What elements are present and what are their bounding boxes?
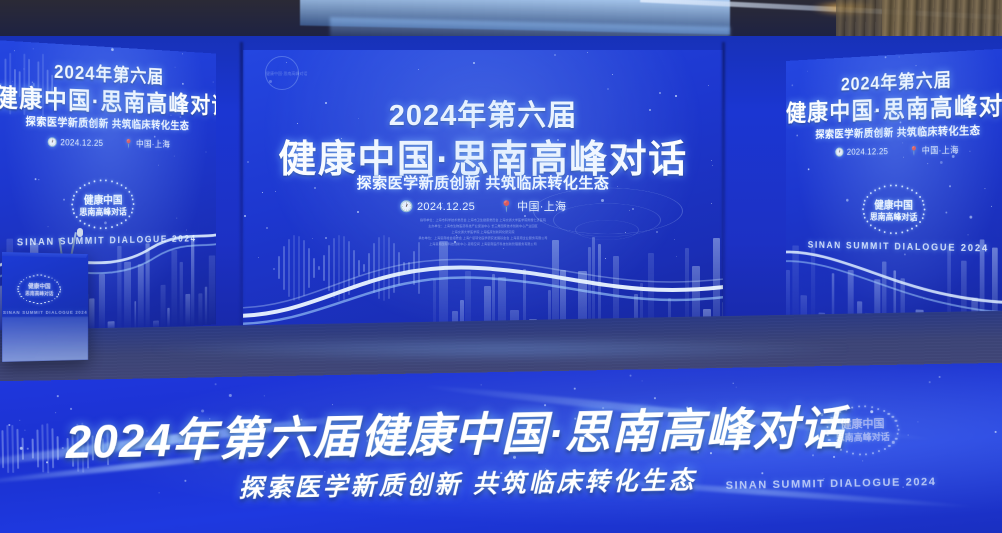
panel-seam-right (722, 42, 725, 342)
emblem-bead (863, 212, 865, 214)
panel-right-year-line: 2024年第六届 (786, 62, 1002, 98)
star-speck (711, 160, 712, 161)
star-speck (174, 67, 175, 68)
panel-right-meta: 🕐 2024.12.25 📍 中国·上海 (786, 142, 1002, 159)
star-speck (587, 52, 588, 53)
skyline-building (205, 287, 207, 325)
star-speck (480, 385, 481, 386)
speaker-podium: 健康中国 思南高峰对话 SINAN SUMMIT DIALOGUE 2024 (2, 252, 88, 362)
emblem-bead (915, 192, 917, 194)
star-speck (325, 237, 327, 239)
star-speck (264, 396, 265, 397)
emblem-bead (111, 226, 113, 228)
location-pin-icon: 📍 (124, 139, 134, 150)
sponsor-line: 上海交通大学医学院 上海临床创新转化研究院 (243, 230, 723, 236)
skyline-building (185, 294, 190, 326)
star-speck (629, 374, 631, 376)
emblem-bead (76, 216, 78, 218)
dna-rung (343, 236, 345, 300)
star-speck (617, 186, 618, 187)
star-speck (182, 53, 183, 54)
dna-rung (338, 235, 340, 301)
emblem-bead (911, 189, 913, 191)
star-speck (456, 235, 457, 236)
emblem-bead (99, 180, 101, 182)
emblem-bead (41, 275, 42, 276)
star-speck (389, 163, 391, 165)
clock-icon: 🕐 (47, 137, 58, 148)
emblem-bead (901, 231, 903, 233)
star-speck (674, 239, 675, 240)
star-speck (903, 156, 904, 157)
emblem-bead (51, 278, 52, 279)
star-speck (247, 161, 249, 163)
dna-helix-graphic (273, 232, 423, 304)
emblem-bead (33, 275, 34, 276)
star-speck (286, 62, 287, 63)
star-speck (26, 100, 27, 101)
star-speck (213, 82, 214, 83)
dna-rung (62, 447, 64, 450)
star-speck (675, 95, 677, 97)
panel-left-year-line: 2024年第六届 (0, 54, 216, 91)
star-speck (601, 199, 604, 202)
skyline-building (161, 285, 166, 328)
emblem-bead (94, 180, 96, 182)
skyline-building (146, 243, 150, 329)
emblem-bead (879, 229, 881, 231)
star-speck (612, 74, 613, 75)
emblem-bead (862, 208, 864, 210)
star-speck (177, 218, 178, 219)
dna-rung (378, 237, 380, 298)
emblem-bead (72, 208, 74, 210)
dna-rung (5, 59, 7, 109)
star-speck (370, 160, 372, 162)
dna-rung (293, 235, 295, 300)
star-speck (607, 88, 609, 90)
star-speck (57, 395, 59, 397)
emblem-bead (864, 405, 866, 407)
emblem-bead (867, 196, 869, 198)
stage-front-banner: 2024年第六届健康中国·思南高峰对话 探索医学新质创新 共筑临床转化生态 健康… (0, 363, 1002, 533)
star-speck (620, 154, 621, 155)
skyline-building (99, 273, 105, 331)
dna-rung (323, 255, 325, 282)
star-speck (659, 92, 661, 94)
emblem-bead (37, 275, 38, 276)
emblem-bead (72, 199, 74, 201)
emblem-bead-ring (862, 184, 925, 234)
watermark-text: 健康中国·思南高峰对话 (266, 71, 298, 77)
panel-center-year-line: 2024年第六届 (243, 92, 723, 134)
dna-rung (51, 74, 53, 96)
star-speck (312, 238, 313, 239)
star-speck (862, 460, 863, 461)
dna-rung (373, 243, 375, 292)
star-speck (969, 151, 970, 152)
emblem-bead (131, 212, 133, 214)
star-speck (656, 231, 658, 233)
emblem-bead (76, 191, 78, 193)
emblem-bead (94, 226, 96, 228)
emblem-bead (859, 453, 861, 455)
star-speck (305, 141, 308, 144)
emblem-bead (54, 298, 55, 299)
dna-rung (28, 59, 30, 110)
skyline-building (138, 264, 144, 329)
emblem-bead (911, 228, 913, 230)
star-speck (929, 381, 931, 383)
dna-rung (288, 239, 290, 297)
skyline-building (180, 262, 183, 327)
star-speck (229, 394, 232, 397)
star-speck (275, 191, 276, 192)
dna-helix-graphic (0, 48, 56, 119)
dna-rung (46, 424, 49, 473)
dna-rung (1, 430, 4, 469)
star-speck (952, 155, 955, 158)
star-speck (126, 128, 127, 129)
star-speck (791, 85, 793, 87)
dna-rung (333, 238, 335, 298)
star-speck (180, 116, 182, 118)
dna-rung (408, 262, 410, 274)
star-speck (59, 92, 62, 95)
dna-rung (33, 83, 35, 86)
star-speck (24, 68, 25, 69)
star-speck (358, 118, 359, 119)
star-speck (927, 163, 928, 164)
dna-rung (383, 235, 385, 301)
panel-center-date: 2024.12.25 (417, 201, 475, 213)
star-speck (898, 56, 899, 57)
star-speck (71, 109, 72, 110)
star-speck (341, 138, 342, 139)
star-speck (186, 229, 187, 230)
emblem-bead (923, 213, 925, 215)
star-speck (632, 208, 634, 210)
star-speck (442, 203, 443, 204)
star-speck (629, 210, 630, 211)
star-speck (105, 221, 108, 224)
panel-right-english-line: SINAN SUMMIT DIALOGUE 2024 (786, 240, 1002, 255)
star-speck (676, 256, 677, 257)
emblem-bead (867, 221, 869, 223)
banner-emblem: 健康中国 思南高峰对话 (825, 405, 900, 456)
skyline-building (124, 261, 131, 330)
emblem-bead (71, 203, 73, 205)
star-speck (891, 110, 892, 111)
skyline-building (117, 246, 121, 331)
star-speck (885, 108, 887, 110)
star-speck (474, 189, 475, 190)
star-speck (712, 165, 713, 166)
emblem-line-1: 健康中国 (71, 192, 134, 208)
dna-rung (358, 260, 360, 275)
emblem-line-1: 健康中国 (17, 281, 60, 290)
dna-rung (393, 243, 395, 294)
dna-rung (363, 264, 365, 272)
star-speck (362, 183, 364, 185)
star-speck (454, 241, 456, 243)
emblem-bead (51, 300, 52, 301)
star-speck (625, 232, 626, 233)
emblem-bead (121, 184, 123, 186)
skyline-building (134, 301, 136, 329)
star-speck (733, 383, 734, 384)
star-speck (12, 80, 13, 81)
dna-rung (388, 237, 390, 299)
emblem-bead (924, 208, 926, 210)
emblem-bead (852, 452, 854, 454)
panel-center-meta: 🕐 2024.12.25 📍 中国·上海 (243, 198, 723, 214)
star-speck (554, 54, 556, 56)
star-speck (206, 152, 207, 153)
location-pin-icon: 📍 (500, 200, 514, 213)
star-speck (524, 215, 526, 217)
clock-icon: 🕐 (835, 147, 845, 157)
floor-light-reflection (150, 336, 850, 362)
emblem-bead (884, 231, 886, 233)
star-specks (786, 48, 1002, 344)
emblem-bead (44, 302, 45, 303)
emblem-bead (79, 220, 81, 222)
dna-rung (22, 437, 24, 460)
panel-center-subtitle: 探索医学新质创新 共筑临床转化生态 (243, 172, 723, 193)
swirl-ring (533, 188, 683, 234)
emblem-bead (878, 450, 880, 452)
star-speck (807, 168, 809, 170)
emblem-bead (865, 453, 867, 455)
dna-rung (14, 69, 16, 98)
star-speck (154, 136, 156, 138)
emblem-bead (121, 222, 123, 224)
emblem-bead (890, 232, 892, 234)
emblem-bead (131, 195, 133, 197)
star-speck (103, 97, 106, 100)
star-speck (900, 122, 902, 124)
star-speck (503, 248, 504, 249)
star-speck (574, 388, 576, 390)
star-speck (185, 479, 187, 481)
star-speck (904, 254, 906, 256)
skyline-building (172, 250, 177, 327)
panel-right-main-title: 健康中国·思南高峰对话 (786, 86, 1002, 128)
emblem-bead (864, 217, 866, 219)
dna-rung (398, 252, 400, 285)
emblem-bead (851, 406, 853, 408)
star-speck (875, 110, 877, 112)
dna-rung (16, 429, 19, 469)
dna-rung (368, 253, 370, 284)
star-speck (357, 211, 359, 213)
skyline-building (191, 239, 194, 326)
swirl-ring (553, 203, 661, 236)
star-speck (847, 249, 848, 250)
star-speck (215, 100, 216, 102)
star-speck (182, 82, 184, 84)
star-speck (985, 188, 986, 189)
emblem-bead (871, 406, 873, 408)
star-speck (970, 216, 973, 219)
star-speck (55, 412, 56, 413)
dna-rung (11, 424, 14, 473)
dna-rung (418, 242, 420, 294)
emblem-line-2: 思南高峰对话 (17, 290, 60, 297)
clock-icon: 🕐 (400, 200, 414, 213)
emblem-bead (883, 448, 885, 450)
star-speck (605, 258, 606, 259)
podium-top-surface (2, 252, 88, 258)
emblem-bead (870, 224, 872, 226)
star-speck (473, 62, 475, 64)
star-speck (325, 102, 327, 104)
sponsor-line: 上海思南国际科技创新中心·思南空间 上海思南医疗科技创新管理服务有限公司 (243, 242, 723, 248)
emblem-bead (89, 225, 91, 227)
emblem-bead (879, 187, 881, 189)
star-speck (314, 187, 316, 189)
star-speck (796, 135, 798, 137)
emblem-bead (84, 223, 86, 225)
star-speck (418, 69, 419, 70)
star-speck (325, 156, 326, 157)
star-speck (266, 227, 268, 229)
dna-rung (413, 251, 415, 285)
emblem-line-2: 思南高峰对话 (71, 205, 134, 218)
emblem-bead (99, 227, 101, 229)
star-speck (258, 257, 259, 258)
emblem-bead (29, 276, 30, 277)
dna-rung (51, 428, 54, 468)
dna-rung (32, 438, 34, 458)
star-speck (902, 142, 903, 143)
emblem-bead (895, 185, 897, 187)
podium-glass-front (2, 317, 88, 362)
star-speck (297, 123, 298, 124)
star-speck (48, 226, 49, 227)
emblem-line-2: 思南高峰对话 (826, 430, 900, 444)
emblem-bead (128, 215, 130, 217)
star-speck (269, 80, 272, 83)
star-speck (193, 99, 195, 102)
swirl-ring (575, 220, 639, 240)
star-speck (171, 115, 172, 116)
emblem-bead (132, 199, 134, 201)
emblem-bead (23, 279, 24, 280)
dna-rung (308, 248, 310, 288)
emblem-bead (79, 187, 81, 189)
panel-center-watermark-logo: 健康中国·思南高峰对话 (265, 56, 299, 90)
emblem-bead (89, 182, 91, 184)
star-speck (14, 50, 15, 51)
dna-rung (348, 241, 350, 294)
panel-left-main-title: 健康中国·思南高峰对话 (0, 78, 216, 121)
dna-rung (303, 240, 305, 296)
emblem-bead (923, 204, 925, 206)
emblem-line-2: 思南高峰对话 (862, 210, 925, 223)
emblem-bead (105, 227, 107, 229)
emblem-bead (883, 410, 885, 412)
panel-left-meta: 🕐 2024.12.25 📍 中国·上海 (0, 134, 216, 151)
emblem-bead-ring (71, 179, 134, 229)
dna-rung (36, 429, 39, 467)
dna-rung (283, 246, 285, 289)
emblem-bead (901, 185, 903, 187)
dna-rung (273, 268, 275, 270)
panel-left-subtitle: 探索医学新质创新 共筑临床转化生态 (0, 112, 216, 134)
emblem-bead (888, 445, 890, 447)
emblem-bead (125, 187, 127, 189)
emblem-bead (884, 185, 886, 187)
star-speck (995, 430, 997, 432)
star-speck (761, 472, 763, 474)
emblem-bead (26, 277, 27, 278)
star-speck (641, 381, 642, 382)
dna-rung (19, 71, 21, 97)
microphone-head-icon (77, 228, 83, 237)
star-speck (140, 74, 141, 75)
dna-rung (318, 266, 320, 270)
star-speck (490, 150, 491, 151)
dna-rung (353, 250, 355, 287)
star-speck (911, 219, 914, 222)
emblem-bead (84, 184, 86, 186)
emblem-bead (116, 224, 118, 226)
sponsor-line: 主办单位：上海市生物医药科技产业促进中心 长三角国家技术创新中心产业园区 (243, 224, 723, 230)
sponsor-line: 指导单位：上海市科学技术委员会 上海市卫生健康委员会 上海交通大学医学院附属仁济… (243, 218, 723, 224)
dna-rung (41, 424, 44, 472)
emblem-bead (846, 451, 848, 453)
emblem-bead (919, 196, 921, 198)
dna-rung (23, 54, 25, 115)
panel-center-location: 中国·上海 (517, 198, 566, 214)
emblem-bead (858, 406, 860, 408)
dna-rung (9, 53, 11, 115)
emblem-bead (906, 187, 908, 189)
emblem-bead (921, 200, 923, 202)
dna-rung (328, 245, 330, 291)
emblem-bead (872, 452, 874, 454)
emblem-bead (874, 189, 876, 191)
emblem-bead (845, 408, 847, 410)
backdrop-panel-right: 2024年第六届 健康中国·思南高峰对话 探索医学新质创新 共筑临床转化生态 🕐… (786, 48, 1002, 344)
emblem-bead (37, 303, 38, 304)
star-speck (885, 56, 887, 58)
star-speck (939, 376, 941, 378)
conference-stage-scene: 2024年第六届 健康中国·思南高峰对话 探索医学新质创新 共筑临床转化生态 🕐… (0, 0, 1002, 533)
emblem-bead (835, 446, 837, 448)
dna-rung (57, 436, 59, 460)
emblem-bead (915, 225, 917, 227)
panel-right-emblem: 健康中国 思南高峰对话 (862, 184, 925, 234)
panel-left-date: 2024.12.25 (60, 137, 103, 147)
dna-rung (403, 262, 405, 273)
star-specks (243, 50, 723, 350)
dna-rung (27, 448, 29, 450)
emblem-bead (26, 300, 27, 301)
emblem-bead (874, 227, 876, 229)
emblem-bead (23, 298, 24, 299)
emblem-bead (839, 411, 841, 413)
emblem-bead (906, 230, 908, 232)
emblem-bead (877, 408, 879, 410)
star-speck (944, 108, 945, 109)
light-wave-graphic (786, 222, 1002, 314)
emblem-bead (73, 195, 75, 197)
star-speck (846, 199, 849, 202)
star-speck (412, 105, 413, 106)
